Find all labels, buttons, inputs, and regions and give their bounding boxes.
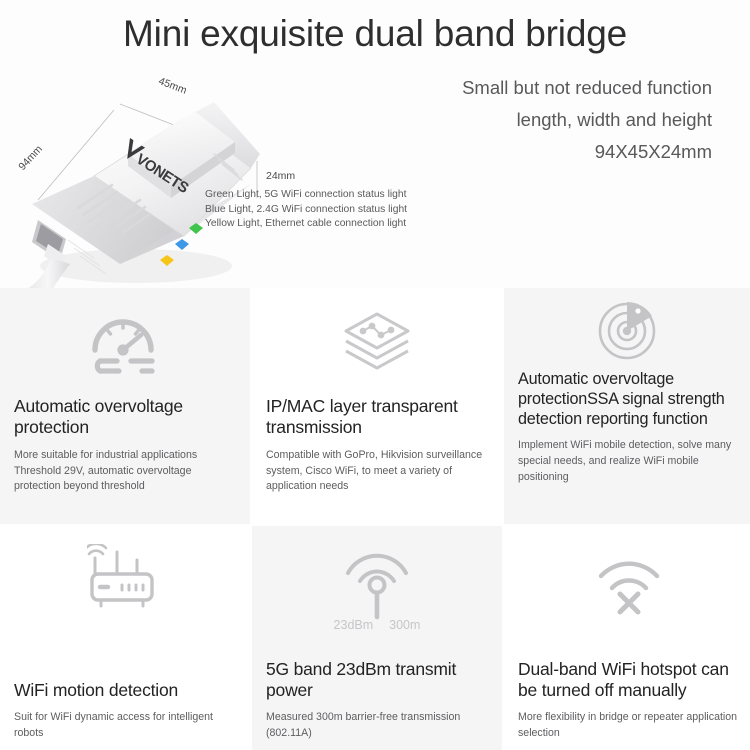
card-title: Automatic overvoltage protection	[14, 396, 236, 439]
card-body: WiFi motion detection Suit for WiFi dyna…	[14, 644, 236, 750]
feature-grid: Automatic overvoltage protection More su…	[0, 288, 750, 750]
card-title: IP/MAC layer transparent transmission	[266, 396, 488, 439]
card-description: More flexibility in bridge or repeater a…	[518, 710, 740, 742]
antenna-icon-labels: 23dBm 300m	[266, 618, 488, 632]
led-legend-yellow: Yellow Light, Ethernet cable connection …	[205, 217, 407, 232]
device-illustration: VONETS	[8, 58, 308, 288]
page-title: Mini exquisite dual band bridge	[0, 12, 750, 56]
hero-subtitle-line-2: length, width and height	[342, 104, 712, 136]
card-title: Dual-band WiFi hotspot can be turned off…	[518, 659, 740, 702]
card-body: Automatic overvoltage protection More su…	[14, 396, 236, 524]
antenna-icon	[331, 545, 423, 625]
icon-container	[266, 288, 488, 396]
card-title: WiFi motion detection	[14, 680, 236, 701]
card-description: Implement WiFi mobile detection, solve m…	[518, 438, 740, 486]
card-body: Dual-band WiFi hotspot can be turned off…	[518, 644, 740, 750]
device-photo: VONETS	[8, 58, 308, 288]
icon-container: 23dBm 300m	[266, 526, 488, 644]
icon-container	[14, 526, 236, 644]
icon-container	[518, 526, 740, 644]
icon-container	[518, 288, 740, 370]
led-legend-green: Green Light, 5G WiFi connection status l…	[205, 188, 407, 203]
hero-subtitle-line-1: Small but not reduced function	[342, 72, 712, 104]
card-body: Automatic overvoltage protectionSSA sign…	[518, 370, 740, 524]
feature-card-overvoltage-protection: Automatic overvoltage protection More su…	[0, 288, 250, 524]
antenna-range-label: 300m	[389, 618, 420, 632]
feature-card-ssa-signal-detection: Automatic overvoltage protectionSSA sign…	[504, 288, 750, 524]
card-title: 5G band 23dBm transmit power	[266, 659, 488, 702]
feature-card-wifi-motion-detection: WiFi motion detection Suit for WiFi dyna…	[0, 526, 250, 750]
card-description: Compatible with GoPro, Hikvision surveil…	[266, 448, 488, 496]
hero-subtitle-line-3: 94X45X24mm	[342, 136, 712, 168]
antenna-power-label: 23dBm	[334, 618, 374, 632]
card-body: 5G band 23dBm transmit power Measured 30…	[266, 644, 488, 750]
card-description: Measured 300m barrier-free transmission …	[266, 710, 488, 742]
hero-subtitle: Small but not reduced function length, w…	[342, 72, 712, 167]
product-feature-page: Mini exquisite dual band bridge Small bu…	[0, 0, 750, 750]
icon-container	[14, 288, 236, 396]
radar-icon	[593, 297, 665, 361]
speedometer-icon	[86, 309, 164, 375]
card-body: IP/MAC layer transparent transmission Co…	[266, 396, 488, 524]
card-description: More suitable for industrial application…	[14, 448, 236, 496]
layers-network-icon	[338, 308, 416, 376]
card-description: Suit for WiFi dynamic access for intelli…	[14, 710, 236, 742]
wifi-off-icon	[589, 550, 669, 620]
led-legend-blue: Blue Light, 2.4G WiFi connection status …	[205, 203, 407, 218]
feature-card-ip-mac-transparent: IP/MAC layer transparent transmission Co…	[252, 288, 502, 524]
hero-section: Mini exquisite dual band bridge Small bu…	[0, 0, 750, 288]
feature-card-5g-transmit-power: 23dBm 300m 5G band 23dBm transmit power …	[252, 526, 502, 750]
card-title: Automatic overvoltage protectionSSA sign…	[518, 370, 740, 429]
dimension-height-label: 24mm	[266, 170, 295, 182]
led-legend: Green Light, 5G WiFi connection status l…	[205, 188, 407, 232]
router-icon	[87, 544, 163, 626]
led-blue	[175, 239, 189, 250]
feature-card-hotspot-off: Dual-band WiFi hotspot can be turned off…	[504, 526, 750, 750]
